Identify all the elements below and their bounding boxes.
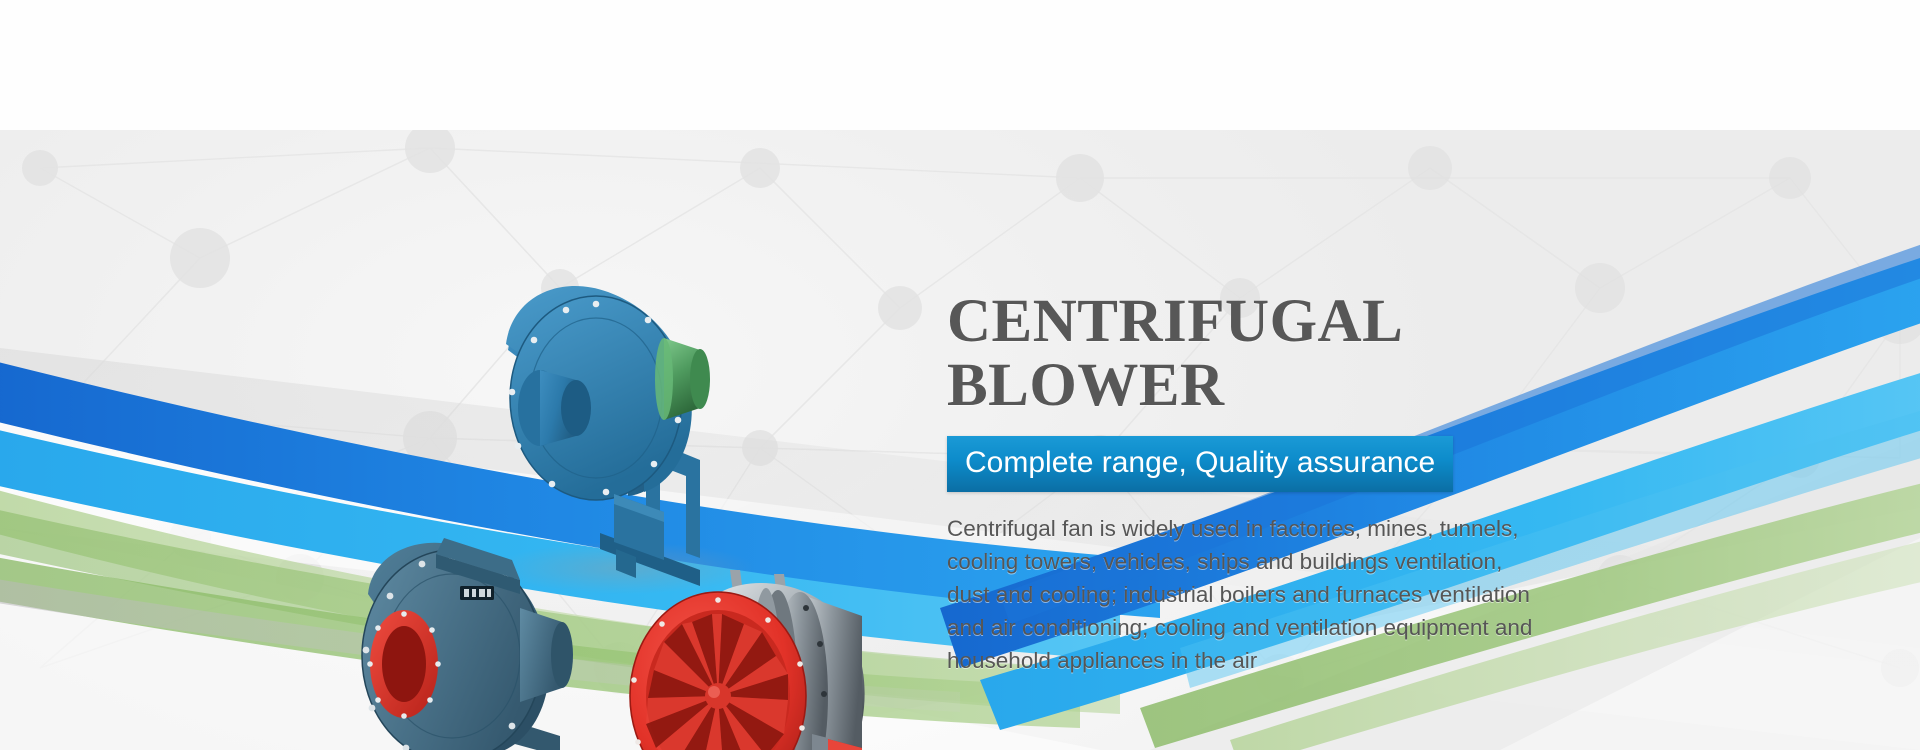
- banner-text-block: CENTRIFUGAL BLOWER Complete range, Quali…: [947, 290, 1587, 677]
- top-white-strip: [0, 0, 1920, 130]
- description-line-5: household appliances in the air: [947, 644, 1539, 677]
- description-paragraph: Centrifugal fan is widely used in factor…: [947, 512, 1539, 677]
- page-title-line-2: BLOWER: [947, 354, 1587, 418]
- description-line-2: cooling towers, vehicles, ships and buil…: [947, 545, 1539, 578]
- blue-centrifugal-blower: [506, 286, 710, 586]
- page-title-line-1: CENTRIFUGAL: [947, 290, 1587, 354]
- description-line-3: dust and cooling; industrial boilers and…: [947, 578, 1539, 611]
- chrome-centrifugal-blower: [630, 570, 865, 750]
- description-line-4: and air conditioning; cooling and ventil…: [947, 611, 1539, 644]
- description-line-1: Centrifugal fan is widely used in factor…: [947, 512, 1539, 545]
- tagline-badge: Complete range, Quality assurance: [947, 436, 1453, 492]
- centrifugal-blower-banner: CENTRIFUGAL BLOWER Complete range, Quali…: [0, 0, 1920, 750]
